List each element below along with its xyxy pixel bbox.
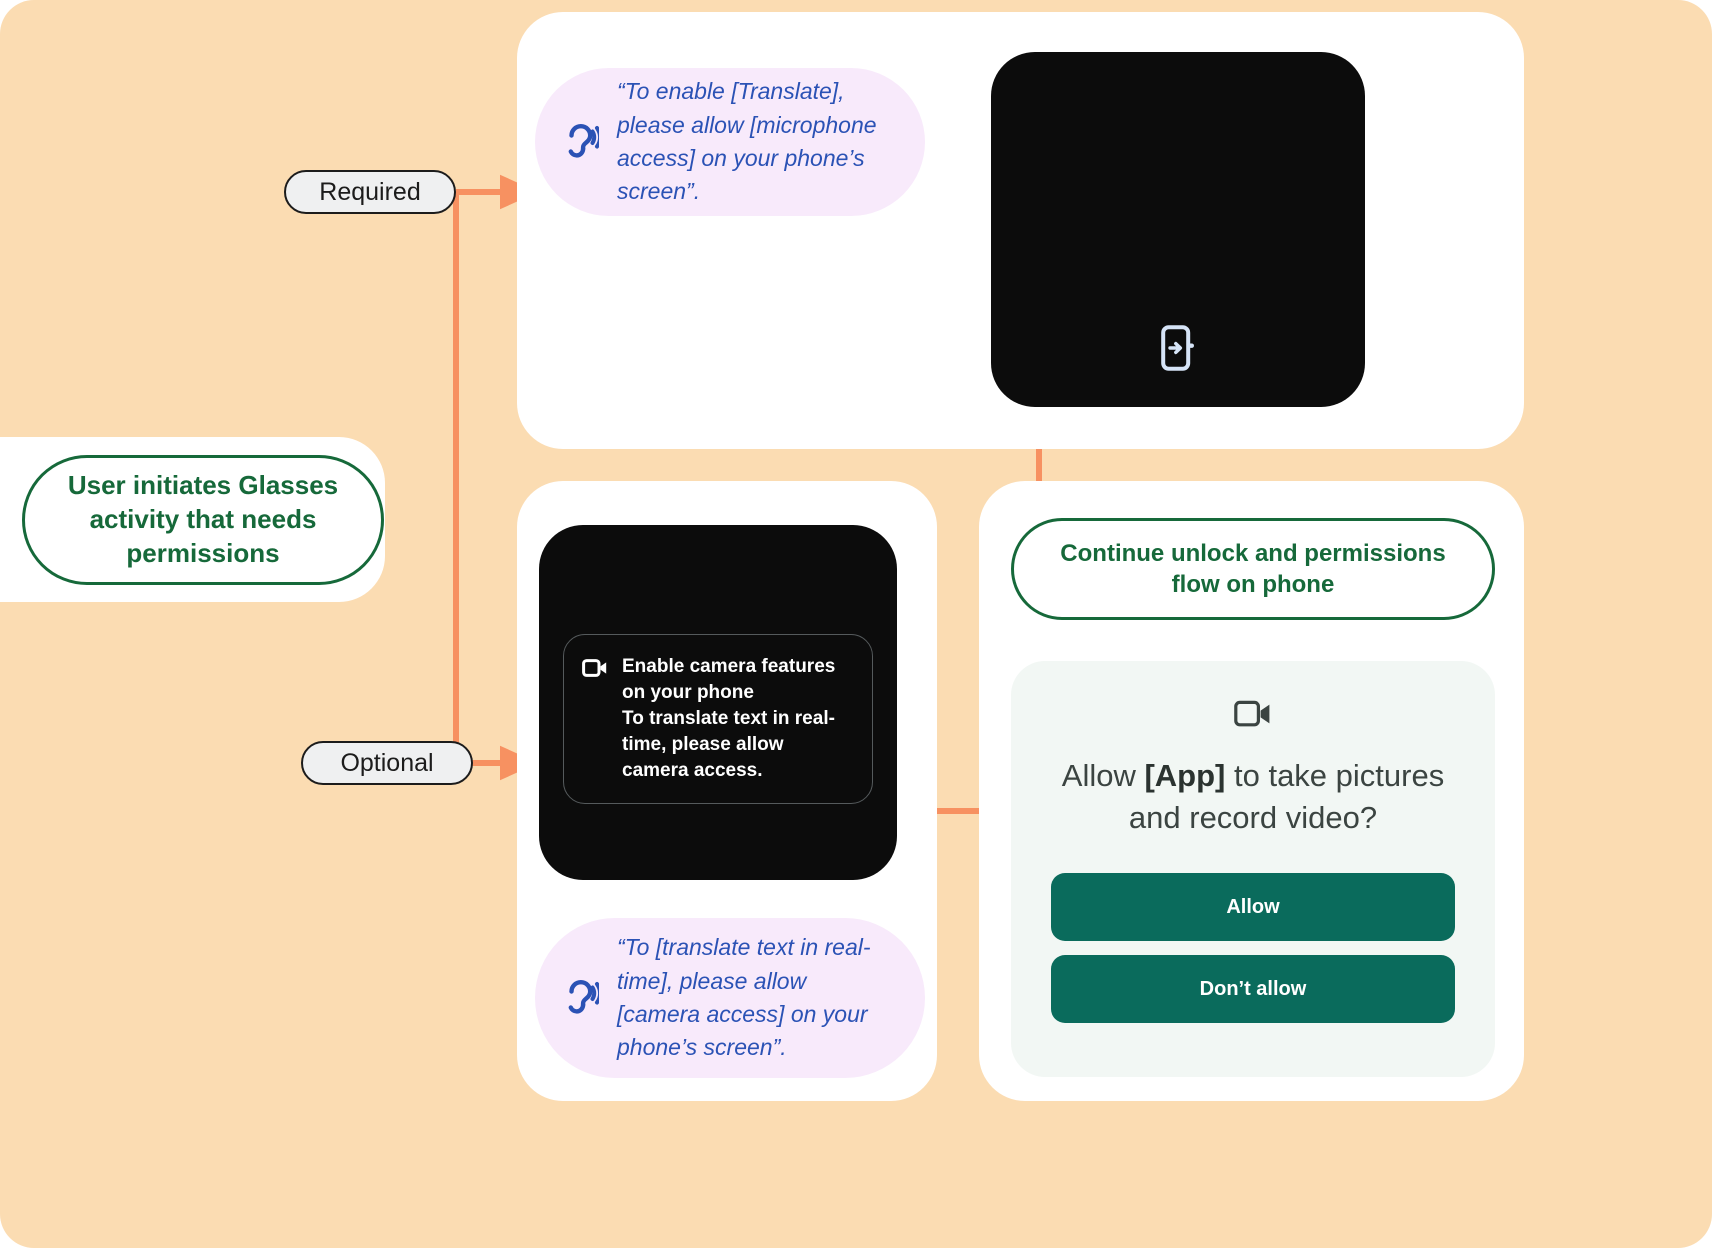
speech-bubble-optional: “To [translate text in real-time], pleas…: [535, 918, 925, 1078]
permission-question-prefix: Allow: [1062, 758, 1145, 793]
branch-label-required: Required: [284, 170, 456, 214]
deny-button[interactable]: Don’t allow: [1051, 955, 1455, 1023]
glasses-display-required: [991, 52, 1365, 407]
speech-bubble-required-text: “To enable [Translate], please allow [mi…: [617, 75, 891, 208]
video-camera-icon: [582, 658, 608, 678]
start-node: User initiates Glasses activity that nee…: [22, 455, 384, 585]
glasses-notification-subtitle: To translate text in real-time, please a…: [622, 706, 852, 784]
video-camera-icon: [1234, 699, 1272, 729]
diagram-canvas: User initiates Glasses activity that nee…: [0, 0, 1712, 1248]
speech-bubble-optional-text: “To [translate text in real-time], pleas…: [617, 931, 891, 1064]
glasses-display-optional: Enable camera features on your phone To …: [539, 525, 897, 880]
permission-dialog: Allow [App] to take pictures and record …: [1011, 661, 1495, 1077]
permission-question: Allow [App] to take pictures and record …: [1051, 755, 1455, 839]
phone-unlock-icon-wrap: [1161, 325, 1195, 371]
allow-button[interactable]: Allow: [1051, 873, 1455, 941]
glasses-notification: Enable camera features on your phone To …: [563, 634, 873, 804]
hearing-icon: [565, 978, 599, 1018]
branch-label-optional: Optional: [301, 741, 473, 785]
glasses-notification-title: Enable camera features on your phone: [622, 654, 852, 706]
phone-flow-header: Continue unlock and permissions flow on …: [1011, 518, 1495, 620]
phone-unlock-icon: [1161, 325, 1195, 371]
hearing-icon: [565, 122, 599, 162]
glasses-notification-body: Enable camera features on your phone To …: [622, 654, 852, 784]
permission-question-app: [App]: [1144, 758, 1225, 793]
speech-bubble-required: “To enable [Translate], please allow [mi…: [535, 68, 925, 216]
